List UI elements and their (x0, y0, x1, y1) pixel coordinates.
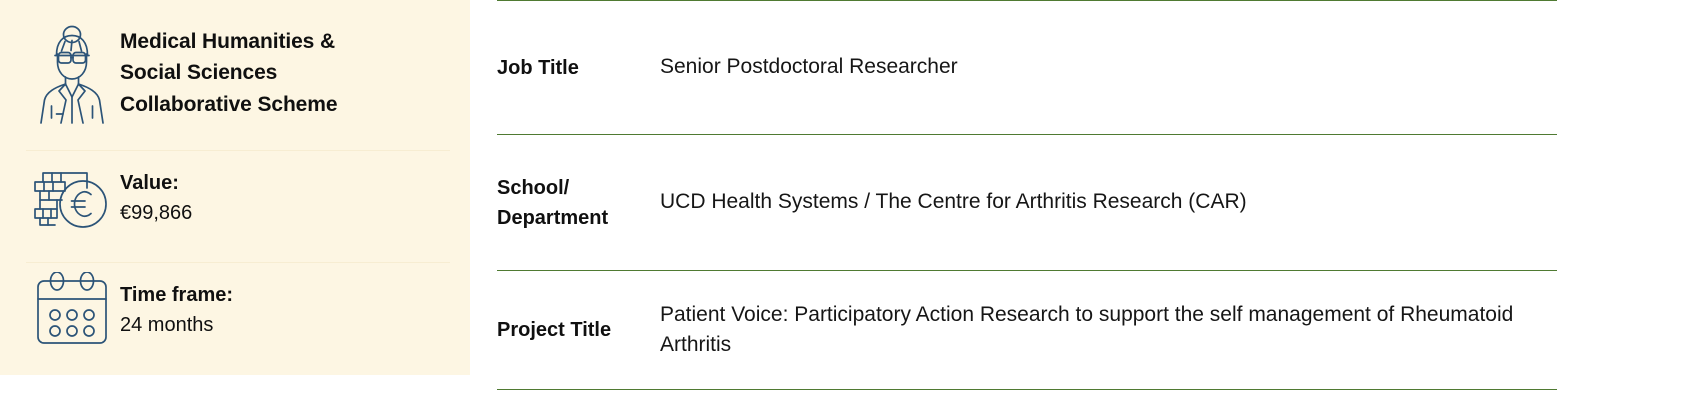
table-row: Project Title Patient Voice: Participato… (497, 271, 1557, 389)
table-row: Job Title Senior Postdoctoral Researcher (497, 1, 1557, 134)
money-euro-icon (24, 166, 120, 230)
stat-value: 24 months (120, 310, 233, 340)
scheme-stat-timeframe: Time frame: 24 months (24, 272, 452, 348)
row-label-project-title: Project Title (497, 315, 660, 345)
row-label-job-title: Job Title (497, 53, 660, 83)
table-rule-bottom (497, 389, 1557, 390)
detail-table: Job Title Senior Postdoctoral Researcher… (497, 0, 1557, 390)
stat-text: Value: €99,866 (120, 168, 192, 229)
stat-text: Time frame: 24 months (120, 280, 233, 341)
stat-label: Value: (120, 168, 192, 198)
scheme-title: Medical Humanities & Social Sciences Col… (120, 26, 390, 121)
panel-divider (26, 262, 450, 263)
scheme-header: Medical Humanities & Social Sciences Col… (24, 22, 452, 124)
stat-value: €99,866 (120, 198, 192, 228)
scientist-researcher-icon (24, 22, 120, 124)
award-summary-card: Medical Humanities & Social Sciences Col… (0, 0, 1687, 409)
row-label-school-department: School/ Department (497, 173, 660, 233)
row-value-project-title: Patient Voice: Participatory Action Rese… (660, 300, 1557, 361)
panel-divider (26, 150, 450, 151)
scheme-panel: Medical Humanities & Social Sciences Col… (0, 0, 470, 375)
row-value-school-department: UCD Health Systems / The Centre for Arth… (660, 187, 1557, 217)
scheme-stat-value: Value: €99,866 (24, 166, 452, 230)
stat-label: Time frame: (120, 280, 233, 310)
calendar-icon (24, 272, 120, 348)
table-row: School/ Department UCD Health Systems / … (497, 135, 1557, 270)
row-value-job-title: Senior Postdoctoral Researcher (660, 52, 1557, 82)
